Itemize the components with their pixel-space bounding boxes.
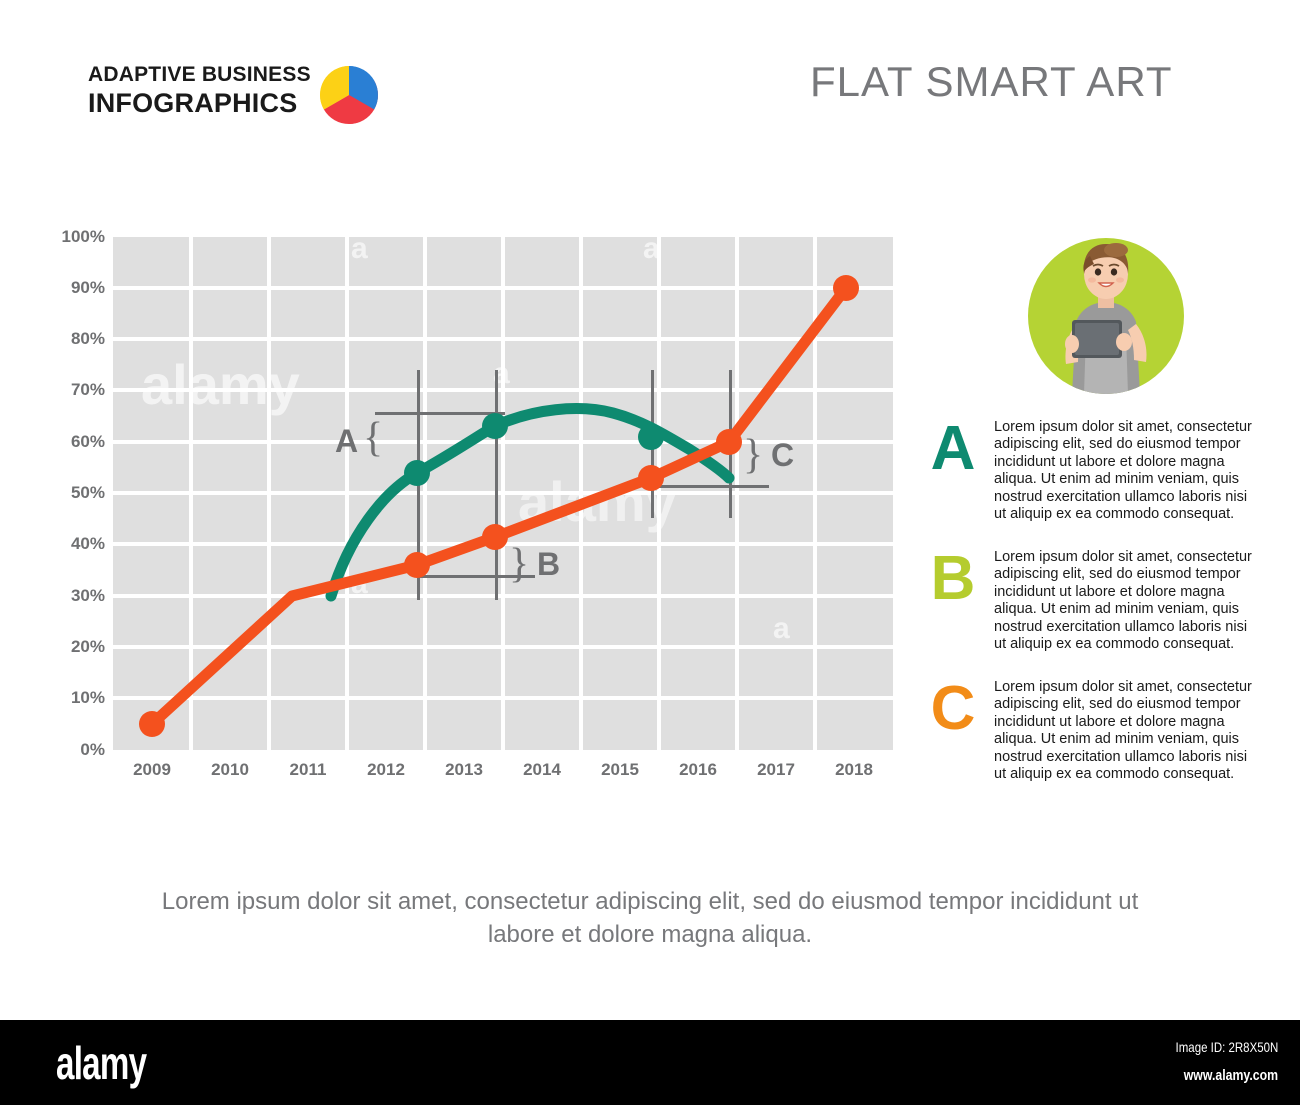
y-tick-100: 100% [39, 227, 105, 247]
brand-logo: ADAPTIVE BUSINESS INFOGRAPHICS [88, 62, 408, 132]
legend-letter-b: B [922, 547, 984, 611]
orange-data-point[interactable] [833, 275, 859, 301]
y-tick-50: 50% [39, 483, 105, 503]
slide-caption: Lorem ipsum dolor sit amet, consectetur … [150, 885, 1150, 951]
orange-data-point[interactable] [482, 524, 508, 550]
x-axis: 2009 2010 2011 2012 2013 2014 2015 2016 … [113, 760, 893, 786]
x-tick-2018: 2018 [815, 760, 893, 780]
brand-logo-line1: ADAPTIVE BUSINESS [88, 62, 311, 88]
orange-data-point[interactable] [716, 429, 742, 455]
x-tick-2016: 2016 [659, 760, 737, 780]
y-tick-0: 0% [39, 740, 105, 760]
x-tick-2010: 2010 [191, 760, 269, 780]
orange-data-point[interactable] [139, 711, 165, 737]
y-tick-40: 40% [39, 534, 105, 554]
y-tick-10: 10% [39, 688, 105, 708]
legend-item-a[interactable]: A Lorem ipsum dolor sit amet, consectetu… [922, 417, 1262, 535]
teal-data-point[interactable] [638, 424, 664, 450]
legend-item-c[interactable]: C Lorem ipsum dolor sit amet, consectetu… [922, 677, 1262, 795]
legend-letter-c: C [922, 677, 984, 741]
legend-text-a: Lorem ipsum dolor sit amet, consectetur … [994, 419, 1262, 523]
woman-with-tablet-avatar [1028, 238, 1184, 394]
y-tick-20: 20% [39, 637, 105, 657]
x-tick-2013: 2013 [425, 760, 503, 780]
x-tick-2009: 2009 [113, 760, 191, 780]
teal-data-point[interactable] [404, 460, 430, 486]
legend-letter-a: A [922, 417, 984, 481]
teal-data-point[interactable] [482, 413, 508, 439]
legend-text-c: Lorem ipsum dolor sit amet, consectetur … [994, 679, 1262, 783]
alamy-footer-bar: alamy Image ID: 2R8X50N www.alamy.com [0, 1020, 1300, 1105]
alamy-image-id: Image ID: 2R8X50N [1175, 1039, 1278, 1055]
y-tick-80: 80% [39, 329, 105, 349]
alamy-logo: alamy [56, 1040, 146, 1086]
brand-logo-text: ADAPTIVE BUSINESS INFOGRAPHICS [88, 62, 311, 119]
brand-logo-line2: INFOGRAPHICS [88, 88, 311, 119]
orange-data-point[interactable] [404, 552, 430, 578]
x-tick-2012: 2012 [347, 760, 425, 780]
legend-item-b[interactable]: B Lorem ipsum dolor sit amet, consectetu… [922, 547, 1262, 665]
alamy-url[interactable]: www.alamy.com [1184, 1067, 1278, 1084]
x-tick-2011: 2011 [269, 760, 347, 780]
x-tick-2015: 2015 [581, 760, 659, 780]
orange-series-line [152, 288, 846, 724]
y-tick-70: 70% [39, 380, 105, 400]
y-tick-90: 90% [39, 278, 105, 298]
y-tick-30: 30% [39, 586, 105, 606]
pie-chart-logo-icon [318, 64, 380, 126]
series-layer [113, 237, 893, 750]
line-chart: alamy a a a alamy a a { A } B } C [113, 237, 893, 750]
y-tick-60: 60% [39, 432, 105, 452]
legend-text-b: Lorem ipsum dolor sit amet, consectetur … [994, 549, 1262, 653]
page-title: FLAT SMART ART [810, 58, 1173, 106]
x-tick-2014: 2014 [503, 760, 581, 780]
x-tick-2017: 2017 [737, 760, 815, 780]
slide-canvas: ADAPTIVE BUSINESS INFOGRAPHICS FLAT SMAR… [0, 0, 1300, 1020]
y-axis: 100% 90% 80% 70% 60% 50% 40% 30% 20% 10%… [39, 237, 105, 750]
orange-data-point[interactable] [638, 465, 664, 491]
